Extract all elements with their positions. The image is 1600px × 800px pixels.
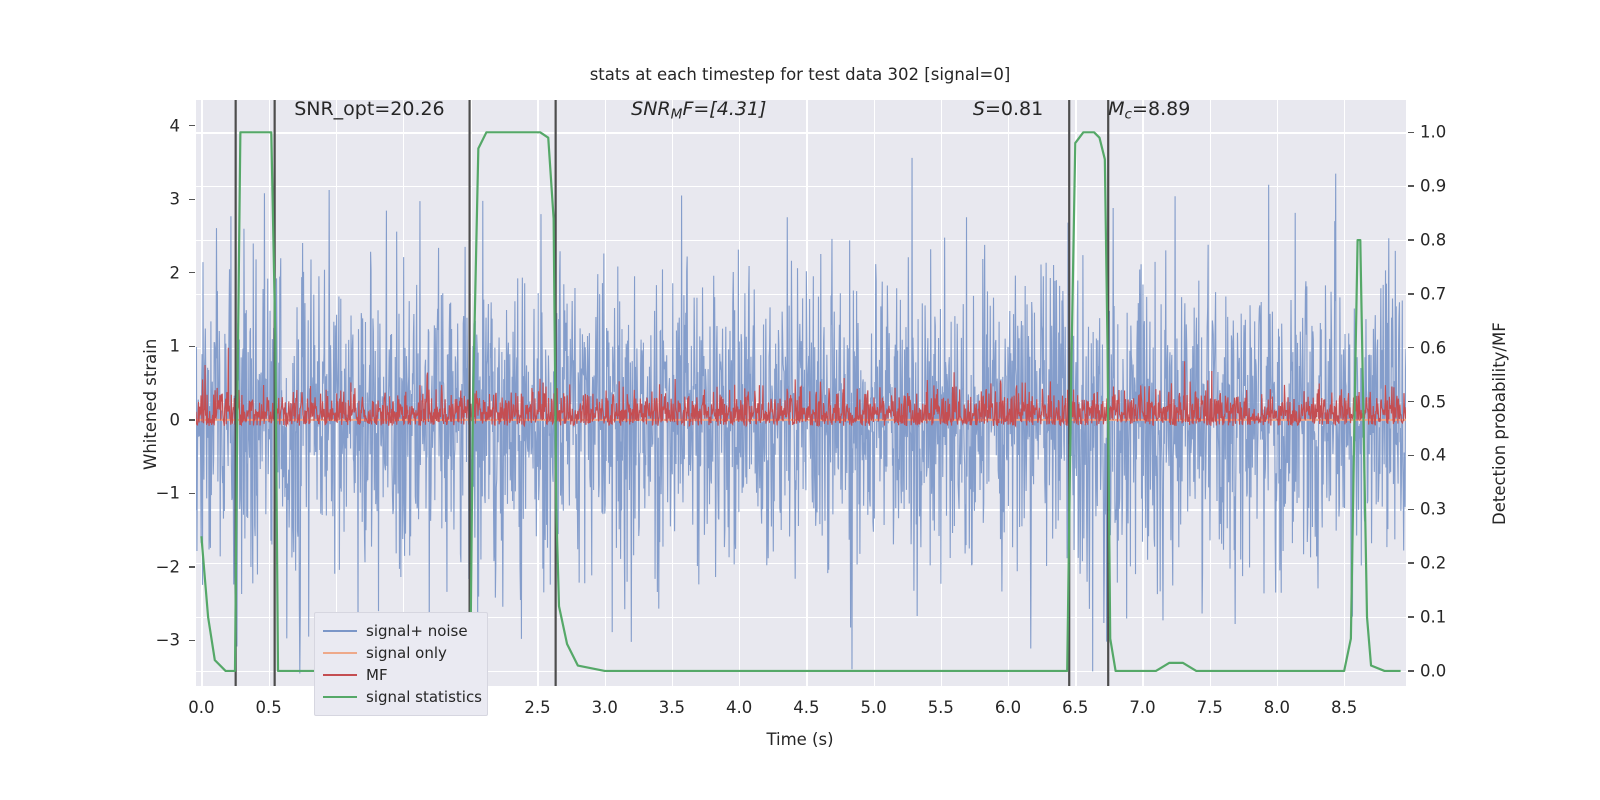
- x-axis-label: Time (s): [0, 730, 1600, 749]
- y-tick-right: [1408, 562, 1414, 563]
- y-tick-label-right: 0.9: [1420, 177, 1446, 196]
- legend-swatch-mf: [323, 674, 357, 676]
- y-tick-left: [189, 493, 195, 494]
- legend-item: signal only: [323, 642, 477, 664]
- x-tick-label: 6.0: [995, 698, 1021, 717]
- annotation-chirp-mass: Mc=8.89: [1108, 100, 1190, 122]
- annotation-s-stat: S=0.81: [973, 100, 1043, 120]
- y-tick-label-right: 0.8: [1420, 231, 1446, 250]
- y-tick-label-right: 0.6: [1420, 338, 1446, 357]
- y-tick-left: [189, 566, 195, 567]
- legend-item: MF: [323, 664, 477, 686]
- y-tick-right: [1408, 509, 1414, 510]
- legend-label: signal only: [366, 644, 447, 662]
- y-tick-label-left: −3: [128, 631, 180, 650]
- y-tick-label-right: 0.1: [1420, 608, 1446, 627]
- legend[interactable]: signal+ noise signal only MF signal stat…: [314, 612, 488, 716]
- y-tick-label-right: 0.7: [1420, 284, 1446, 303]
- figure-canvas: stats at each timestep for test data 302…: [0, 0, 1600, 800]
- y-tick-right: [1408, 132, 1414, 133]
- y-tick-label-left: 4: [128, 116, 180, 135]
- x-tick-label: 4.0: [726, 698, 752, 717]
- legend-label: signal+ noise: [366, 622, 468, 640]
- annotation-layer: SNR_opt=20.26SNRMF=[4.31]S=0.81Mc=8.89: [196, 100, 1406, 686]
- y-tick-left: [189, 199, 195, 200]
- y-tick-left: [189, 272, 195, 273]
- y-tick-right: [1408, 401, 1414, 402]
- x-tick-label: 0.0: [188, 698, 214, 717]
- x-tick-label: 7.0: [1129, 698, 1155, 717]
- x-tick-label: 3.5: [659, 698, 685, 717]
- annotation-snr-opt: SNR_opt=20.26: [294, 100, 444, 120]
- y-tick-right: [1408, 347, 1414, 348]
- annotation-snr-mf: SNRMF=[4.31]: [631, 100, 766, 122]
- legend-swatch-signal-only: [323, 652, 357, 654]
- x-tick-label: 7.5: [1197, 698, 1223, 717]
- y-tick-right: [1408, 455, 1414, 456]
- x-tick-label: 5.5: [928, 698, 954, 717]
- x-tick-label: 5.0: [860, 698, 886, 717]
- y-tick-label-right: 0.4: [1420, 446, 1446, 465]
- x-tick-label: 2.5: [524, 698, 550, 717]
- y-tick-label-left: 2: [128, 263, 180, 282]
- y-tick-right: [1408, 239, 1414, 240]
- x-tick-label: 6.5: [1062, 698, 1088, 717]
- y-tick-label-right: 0.5: [1420, 392, 1446, 411]
- y-tick-right: [1408, 616, 1414, 617]
- x-tick-label: 3.0: [592, 698, 618, 717]
- legend-label: signal statistics: [366, 688, 482, 706]
- y-tick-label-left: −1: [128, 484, 180, 503]
- x-tick-label: 0.5: [255, 698, 281, 717]
- legend-swatch-signal-noise: [323, 630, 357, 632]
- x-tick-label: 8.0: [1264, 698, 1290, 717]
- y-tick-label-right: 1.0: [1420, 123, 1446, 142]
- y-tick-left: [189, 346, 195, 347]
- y-axis-left-label: Whitened strain: [141, 339, 160, 470]
- legend-swatch-signal-statistics: [323, 696, 357, 698]
- y-tick-label-left: −2: [128, 557, 180, 576]
- y-tick-left: [189, 125, 195, 126]
- legend-label: MF: [366, 666, 388, 684]
- y-tick-right: [1408, 670, 1414, 671]
- y-tick-left: [189, 419, 195, 420]
- y-tick-right: [1408, 185, 1414, 186]
- legend-item: signal statistics: [323, 686, 477, 708]
- y-tick-label-left: 3: [128, 190, 180, 209]
- y-tick-label-right: 0.2: [1420, 554, 1446, 573]
- x-tick-label: 8.5: [1331, 698, 1357, 717]
- x-tick-label: 4.5: [793, 698, 819, 717]
- y-tick-left: [189, 640, 195, 641]
- y-tick-label-right: 0.0: [1420, 661, 1446, 680]
- legend-item: signal+ noise: [323, 620, 477, 642]
- plot-area: SNR_opt=20.26SNRMF=[4.31]S=0.81Mc=8.89: [196, 100, 1406, 686]
- y-axis-right-label: Detection probability/MF: [1490, 322, 1509, 525]
- figure-title: stats at each timestep for test data 302…: [0, 65, 1600, 84]
- y-tick-right: [1408, 293, 1414, 294]
- y-tick-label-right: 0.3: [1420, 500, 1446, 519]
